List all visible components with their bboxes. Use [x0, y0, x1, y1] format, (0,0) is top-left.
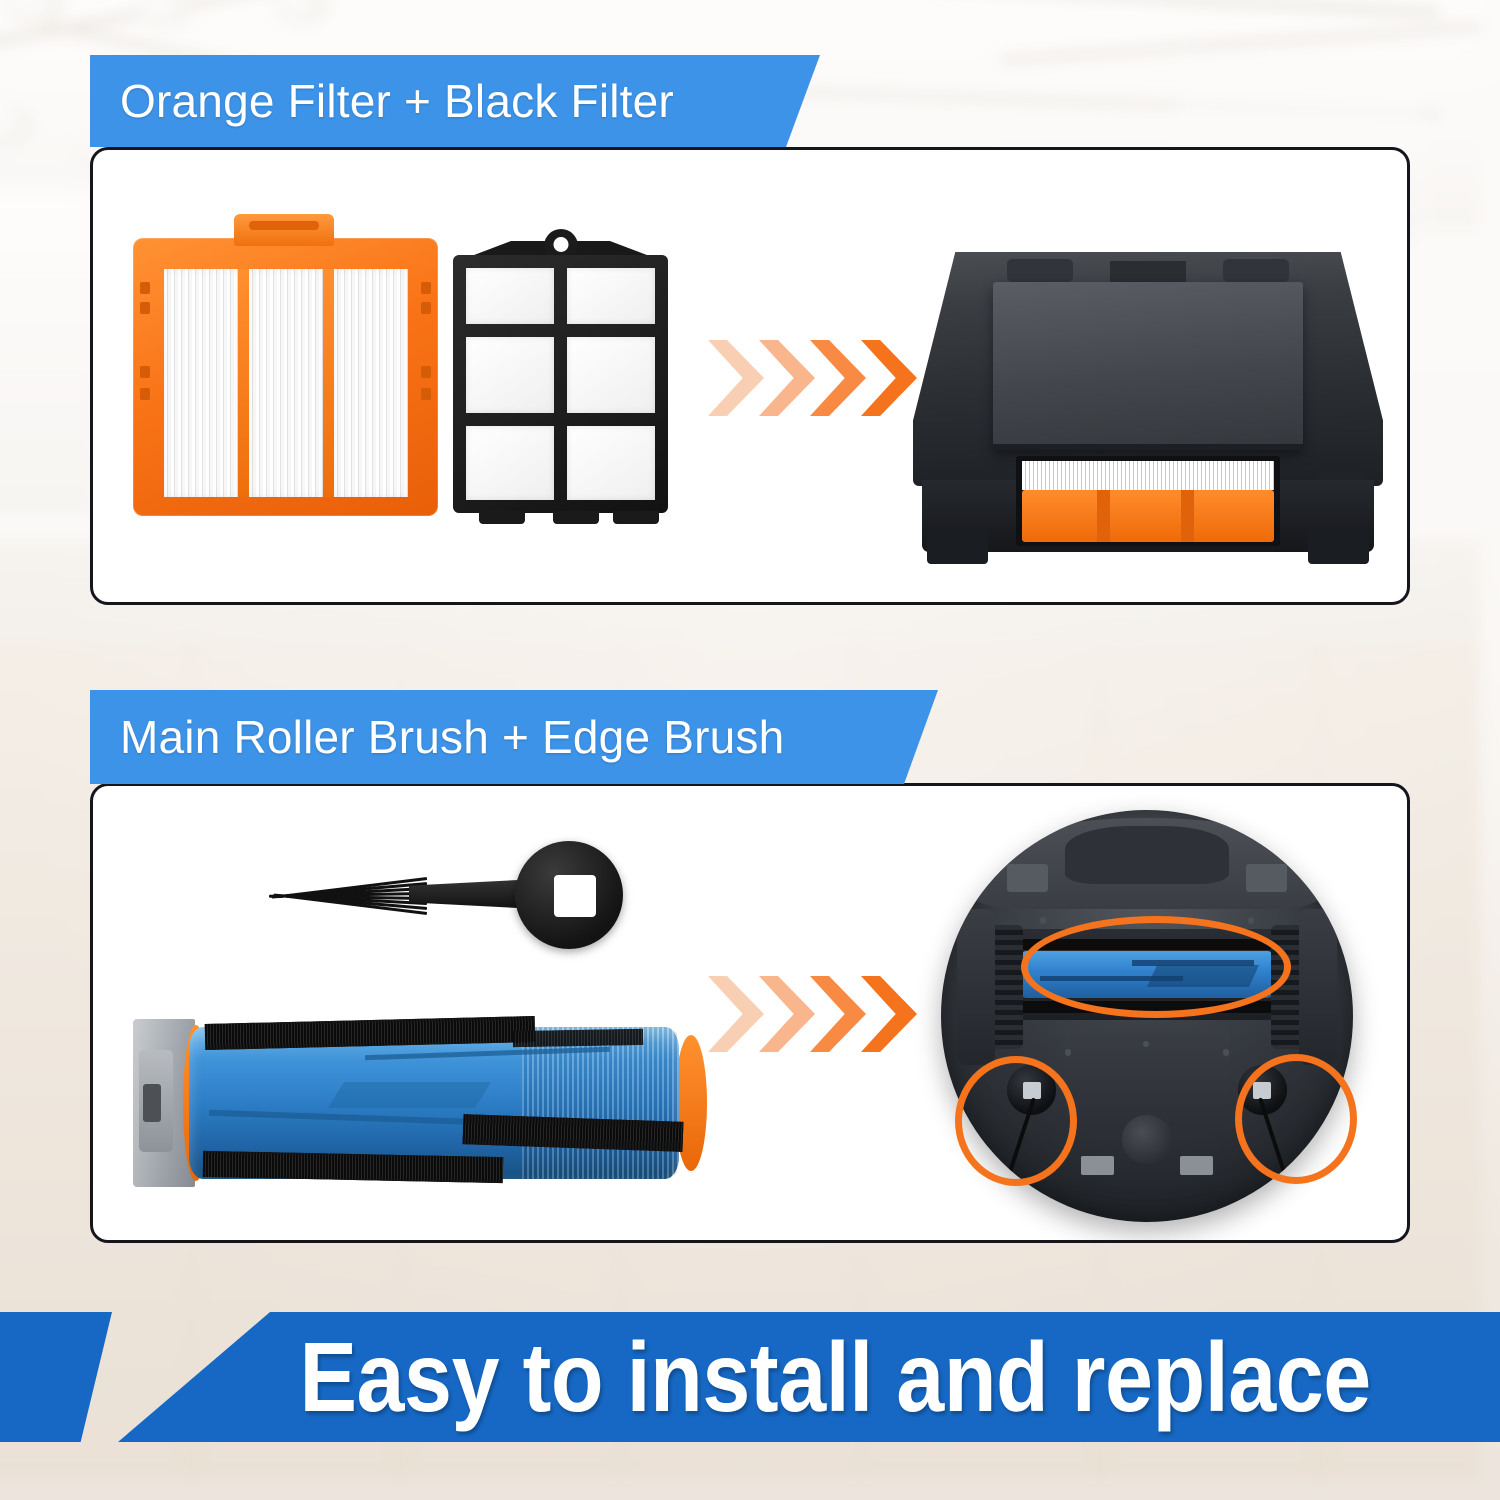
- black-filter-mesh-panel: [567, 426, 655, 500]
- dust-bin-filter-rib: [1097, 490, 1110, 542]
- robot-wheel-hub-left: [957, 909, 994, 1066]
- roller-brush-cap-hole: [143, 1084, 161, 1122]
- edge-brush-mount-hole: [554, 875, 596, 917]
- section-banner-brushes-label: Main Roller Brush + Edge Brush: [120, 710, 784, 764]
- dust-bin-pad: [1223, 258, 1289, 282]
- orange-filter-pleat-column: [334, 269, 408, 497]
- orange-filter-notch: [421, 388, 431, 400]
- section-banner-filters-label: Orange Filter + Black Filter: [120, 74, 674, 128]
- orange-filter-notch: [421, 366, 431, 378]
- product-card-brushes: [90, 783, 1410, 1243]
- black-filter-frame: [453, 255, 668, 513]
- robot-sensor-left: [1007, 864, 1048, 893]
- chevron-icon-2: [759, 976, 815, 1052]
- black-filter-mesh-panel: [567, 337, 655, 413]
- chevron-icon-4: [861, 340, 917, 416]
- orange-filter-notch: [140, 282, 150, 294]
- black-filter-foot: [479, 511, 525, 524]
- dust-bin-lid: [993, 282, 1303, 450]
- black-filter-foot: [613, 511, 659, 524]
- chevron-icon-3: [810, 340, 866, 416]
- roller-brush-bristle-strip: [513, 1029, 643, 1047]
- cta-banner-label: Easy to install and replace: [247, 1321, 1371, 1434]
- main-roller-brush: [133, 1008, 713, 1198]
- orange-filter-pleat-column: [164, 269, 238, 497]
- orange-filter-divider: [323, 269, 334, 497]
- orange-filter-notch: [140, 388, 150, 400]
- edge-brush-bristle-tuft: [267, 871, 427, 919]
- orange-filter-pleat-column: [249, 269, 323, 497]
- dust-bin-filter-rib: [1181, 490, 1194, 542]
- orange-filter-divider: [238, 269, 249, 497]
- cta-banner: Easy to install and replace: [118, 1312, 1500, 1442]
- chevron-icon-2: [759, 340, 815, 416]
- chevron-icon-4: [861, 976, 917, 1052]
- black-filter-mesh-panel: [466, 426, 554, 500]
- robot-caster-wheel: [1122, 1115, 1171, 1164]
- chevron-arrow-group-brushes: [708, 976, 912, 1052]
- highlight-roller-brush-bay: [1021, 916, 1291, 1018]
- product-card-filters: [90, 147, 1410, 605]
- robot-sensor-right: [1246, 864, 1287, 893]
- orange-filter-media-well: [164, 269, 408, 497]
- black-filter-ring-hole: [553, 237, 568, 252]
- orange-filter-notch: [421, 302, 431, 314]
- dust-bin-foot: [927, 525, 988, 564]
- chevron-arrow-group-filters: [708, 340, 912, 416]
- black-filter-foot: [553, 511, 599, 524]
- edge-side-brush: [193, 841, 623, 956]
- robot-charging-contact-left: [1081, 1156, 1114, 1175]
- orange-filter-notch: [140, 366, 150, 378]
- dust-bin-pad: [1007, 258, 1073, 282]
- robot-charging-contact-right: [1180, 1156, 1213, 1175]
- orange-filter-notch: [140, 302, 150, 314]
- chevron-icon-1: [708, 976, 764, 1052]
- dust-bin-foot: [1308, 525, 1369, 564]
- section-banner-brushes: Main Roller Brush + Edge Brush: [90, 690, 938, 784]
- orange-filter-tab-slot: [249, 221, 319, 230]
- black-foam-filter: [453, 255, 668, 513]
- orange-filter-notch: [421, 282, 431, 294]
- orange-hepa-filter: [133, 238, 438, 516]
- chevron-icon-3: [810, 976, 866, 1052]
- orange-filter-handle-tab: [234, 214, 335, 246]
- black-filter-mesh-panel: [466, 337, 554, 413]
- dust-bin-orange-filter: [1022, 490, 1275, 542]
- dust-bin-filter-slot: [1016, 456, 1279, 546]
- highlight-right-edge-brush: [1235, 1054, 1357, 1184]
- dust-bin-assembly: [913, 252, 1383, 552]
- black-filter-mesh-panel: [567, 268, 655, 324]
- robot-wheel-hub-right: [1299, 909, 1336, 1066]
- highlight-left-edge-brush: [955, 1056, 1077, 1186]
- black-filter-mesh-panel: [466, 268, 554, 324]
- robot-top-slot: [1065, 826, 1230, 884]
- chevron-icon-1: [708, 340, 764, 416]
- section-banner-filters: Orange Filter + Black Filter: [90, 55, 820, 147]
- dust-bin-pleated-media: [1022, 461, 1275, 490]
